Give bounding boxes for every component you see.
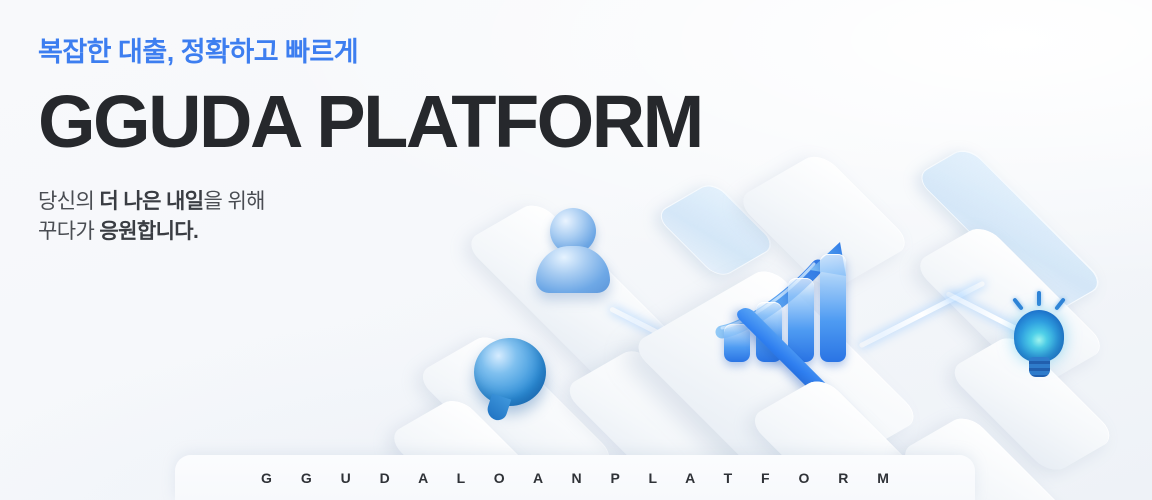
subtitle-line1-lead: 당신의 <box>38 190 99 213</box>
hero-subtitle-line-2: 꾸다가 응원합니다. <box>38 217 658 247</box>
platform-wordmark-bar: G G U D A L O A N P L A T F O R M <box>175 455 975 500</box>
subtitle-line2-strong: 응원합니다. <box>99 220 198 243</box>
subtitle-line1-tail: 을 위해 <box>203 190 264 213</box>
hero-subtitle-line-1: 당신의 더 나은 내일을 위해 <box>38 187 658 217</box>
subtitle-line2-lead: 꾸다가 <box>38 220 99 243</box>
avatar-body <box>536 246 610 293</box>
hero-tagline: 복잡한 대출, 정확하고 빠르게 <box>38 36 658 70</box>
hero-subtitle: 당신의 더 나은 내일을 위해 꾸다가 응원합니다. <box>38 187 658 248</box>
platform-wordmark-text: G G U D A L O A N P L A T F O R M <box>249 470 902 486</box>
bulb-glass <box>1014 310 1064 362</box>
hero-copy: 복잡한 대출, 정확하고 빠르게 GGUDA PLATFORM 당신의 더 나은… <box>38 36 658 248</box>
bar-4 <box>820 254 846 362</box>
speech-bubble-3d <box>474 338 546 406</box>
growth-bar-chart-3d <box>716 252 884 380</box>
page-title: GGUDA PLATFORM <box>38 86 658 157</box>
bar-1 <box>724 324 750 362</box>
bubble-body <box>474 338 546 406</box>
bulb-base <box>1029 357 1050 377</box>
lightbulb-3d <box>1010 302 1068 378</box>
hero-banner: 복잡한 대출, 정확하고 빠르게 GGUDA PLATFORM 당신의 더 나은… <box>0 0 1152 500</box>
bulb-ray-top <box>1037 291 1041 306</box>
subtitle-line1-strong: 더 나은 내일 <box>99 190 203 213</box>
